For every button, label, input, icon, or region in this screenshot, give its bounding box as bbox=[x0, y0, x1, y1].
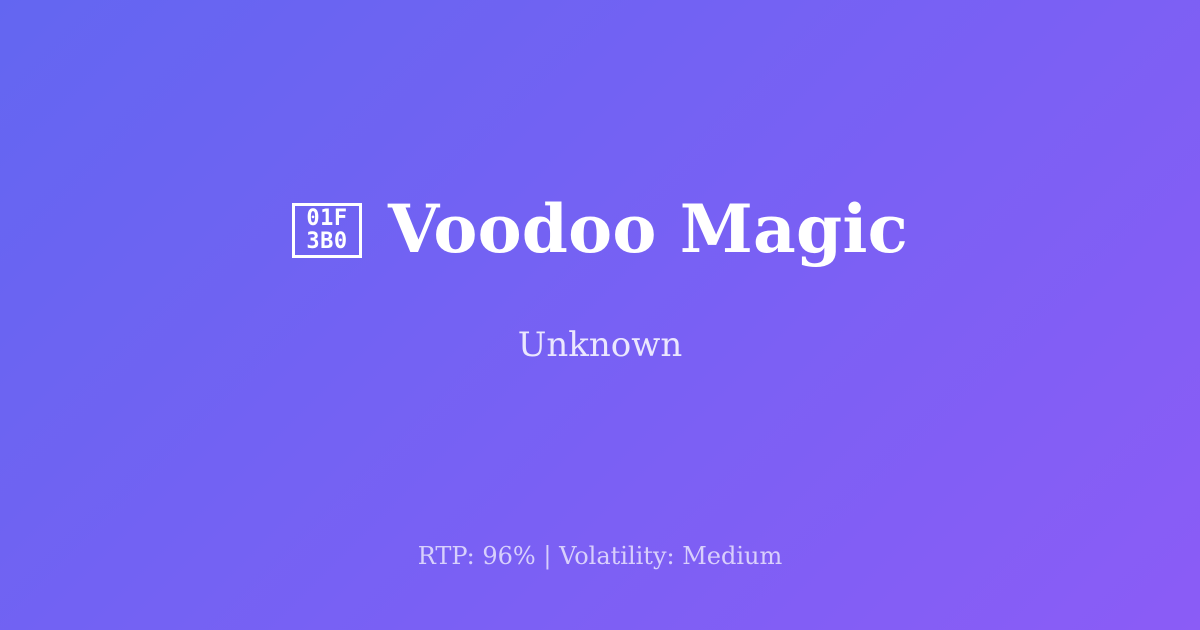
game-subtitle: Unknown bbox=[518, 328, 683, 362]
card-footer: RTP: 96% | Volatility: Medium bbox=[0, 544, 1200, 568]
card-center-stack: 01F 3B0 Voodoo Magic Unknown bbox=[0, 0, 1200, 630]
tofu-codepoint-top: 01F bbox=[306, 207, 347, 230]
tofu-codepoint-bottom: 3B0 bbox=[306, 230, 347, 253]
title-row: 01F 3B0 Voodoo Magic bbox=[292, 196, 908, 262]
page-title: Voodoo Magic bbox=[388, 196, 908, 262]
og-card: 01F 3B0 Voodoo Magic Unknown RTP: 96% | … bbox=[0, 0, 1200, 630]
slot-machine-icon: 01F 3B0 bbox=[292, 203, 362, 258]
game-meta-line: RTP: 96% | Volatility: Medium bbox=[418, 542, 783, 570]
